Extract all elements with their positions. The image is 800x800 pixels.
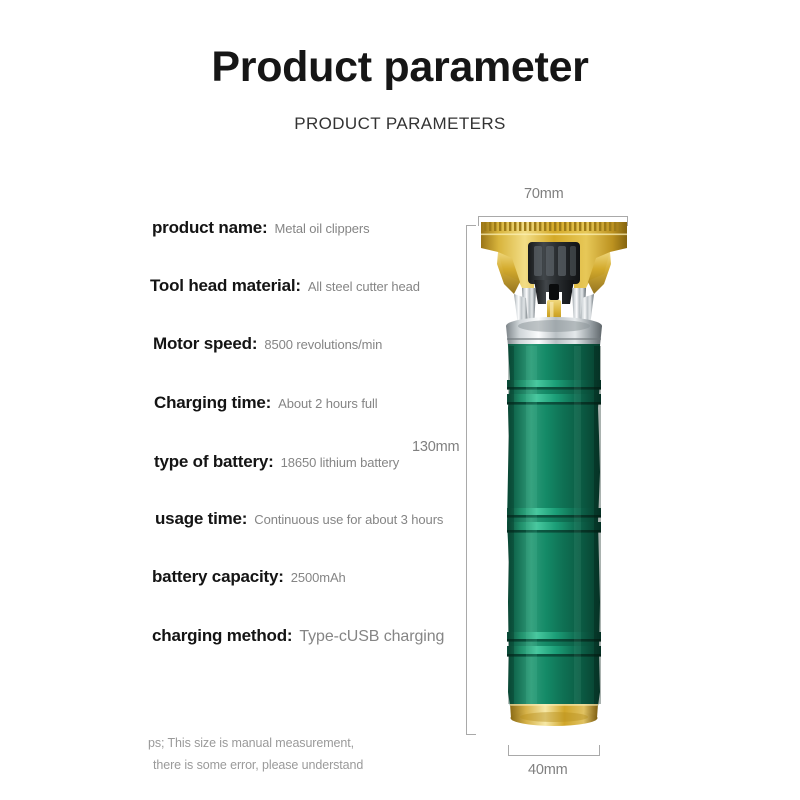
spec-label: battery capacity: — [152, 567, 284, 587]
spec-row-motor-speed: Motor speed: 8500 revolutions/min — [153, 334, 382, 354]
spec-row-product-name: product name: Metal oil clippers — [152, 218, 369, 238]
page-subtitle: PRODUCT PARAMETERS — [0, 114, 800, 134]
spec-label: Motor speed: — [153, 334, 257, 354]
dimension-tick-bottom-left — [508, 745, 509, 756]
spec-value: 18650 lithium battery — [281, 455, 400, 470]
product-image-hair-clipper — [478, 222, 630, 738]
spec-label: type of battery: — [154, 452, 274, 472]
dimension-label-width-bottom: 40mm — [528, 762, 568, 778]
dimension-label-width-top: 70mm — [524, 186, 564, 202]
footnote-line-1: ps; This size is manual measurement, — [148, 733, 363, 755]
spec-value: About 2 hours full — [278, 396, 377, 411]
clipper-collar — [506, 317, 602, 346]
spec-label: charging method: — [152, 626, 292, 646]
spec-row-tool-head-material: Tool head material: All steel cutter hea… — [150, 276, 420, 296]
product-dimension-zone: 70mm 130mm 40mm — [400, 180, 800, 790]
spec-row-charging-time: Charging time: About 2 hours full — [154, 393, 378, 413]
clipper-body — [507, 344, 601, 706]
spec-value: Metal oil clippers — [274, 221, 369, 236]
dimension-tick-side-bottom — [466, 734, 476, 735]
dimension-tick-side-top — [466, 225, 476, 226]
footnote-line-2: there is some error, please understand — [148, 755, 363, 777]
dimension-tick-bottom-right — [599, 745, 600, 756]
spec-label: Tool head material: — [150, 276, 301, 296]
spec-label: Charging time: — [154, 393, 271, 413]
dimension-line-top-horizontal — [478, 216, 628, 217]
spec-label: usage time: — [155, 509, 247, 529]
clipper-base-ring — [510, 704, 598, 726]
dimension-label-height: 130mm — [412, 439, 459, 455]
footnote: ps; This size is manual measurement, the… — [148, 733, 363, 777]
spec-row-type-of-battery: type of battery: 18650 lithium battery — [154, 452, 399, 472]
dimension-line-bottom-horizontal — [508, 755, 600, 756]
spec-row-battery-capacity: battery capacity: 2500mAh — [152, 567, 346, 587]
spec-label: product name: — [152, 218, 267, 238]
spec-value: 2500mAh — [291, 570, 346, 585]
clipper-mechanism-group — [528, 242, 580, 304]
dimension-line-side-vertical — [466, 225, 467, 735]
spec-value: 8500 revolutions/min — [264, 337, 382, 352]
product-parameter-page: Product parameter PRODUCT PARAMETERS pro… — [0, 0, 800, 800]
page-title: Product parameter — [0, 44, 800, 91]
